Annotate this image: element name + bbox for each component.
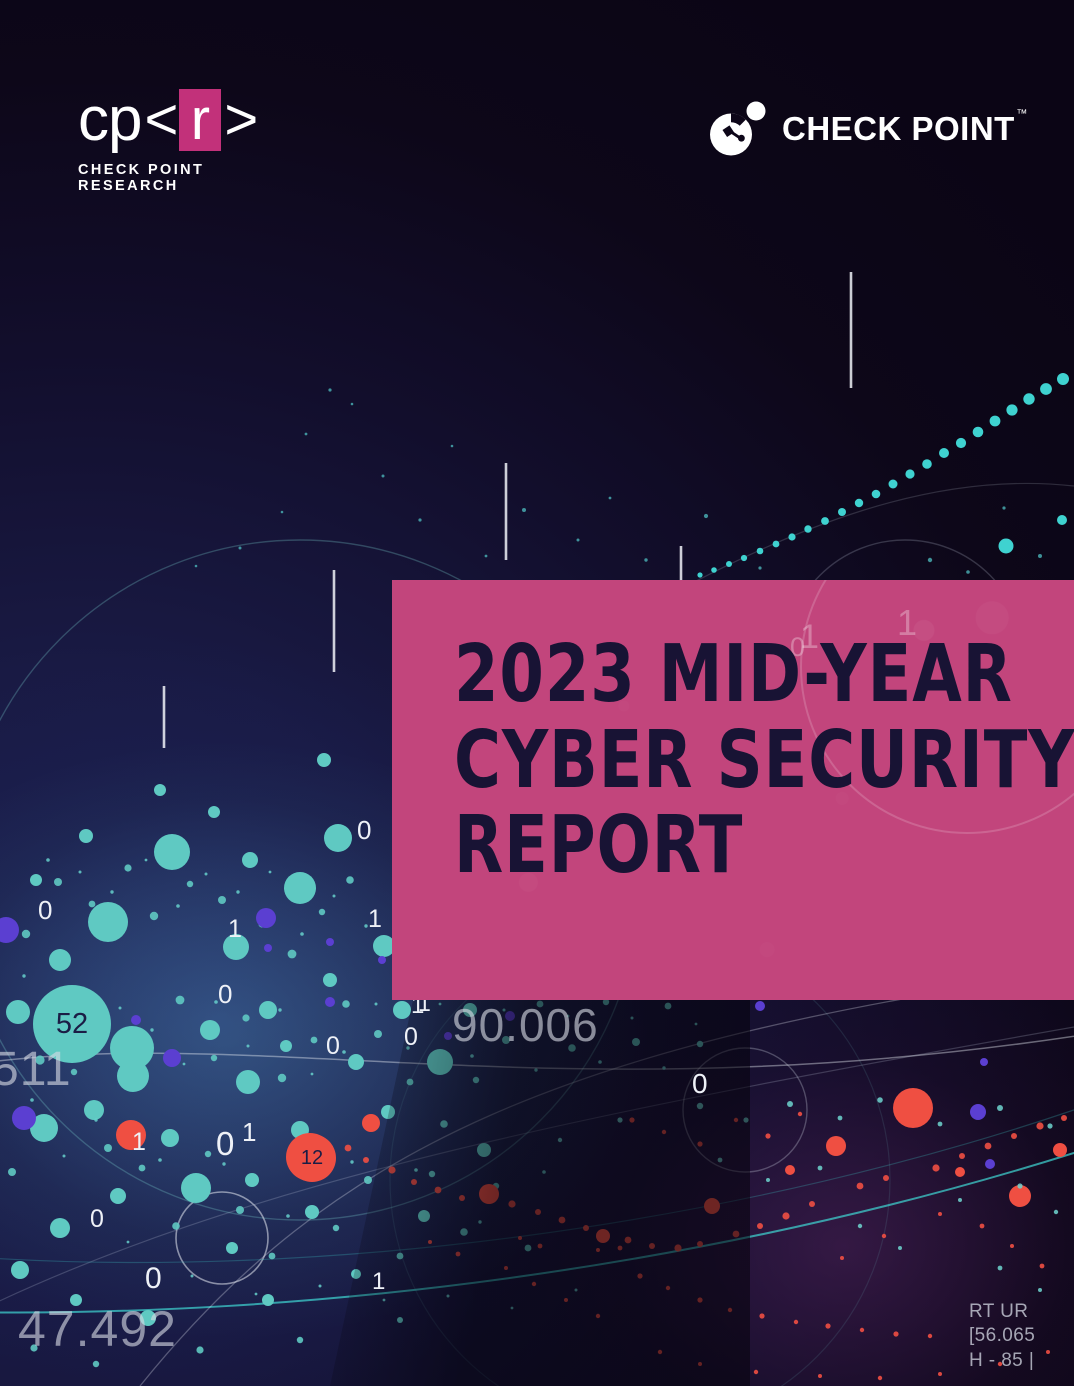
cpr-logo[interactable]: cp < r > CHECK POINT RESEARCH [78,88,278,194]
binary-digit: 1 [132,1128,146,1157]
binary-digit: 1 [368,905,382,934]
binary-digit: 1 [228,915,242,944]
binary-digit: 0 [326,1032,340,1061]
binary-digit: 0 [357,815,371,846]
data-bubble-52-label: 52 [56,1008,88,1041]
readout-90006: 90.006 [452,998,599,1052]
cpr-logo-bracket-open: < [144,91,178,149]
readout-47492: 47.492 [18,1300,177,1358]
binary-digit: 1 [372,1268,385,1296]
binary-digit: 0 [38,895,52,926]
readout-511: 511 [0,1042,72,1097]
check-point-wordmark: CHECK POINT ™ [782,110,1015,148]
page-title-line-1: 2023 MID-YEAR [454,638,994,711]
cpr-logo-subtitle: CHECK POINT RESEARCH [78,162,278,194]
binary-digit: 0 [216,1125,234,1163]
binary-digit: 1 [242,1117,256,1148]
page-title: 2023 MID-YEAR CYBER SECURITY REPORT [454,638,994,895]
data-bubble-12: 12 [288,1134,336,1182]
report-cover-page: 52 12 511 90.006 47.492 1 RT UR [56.065 … [0,0,1074,1386]
cpr-logo-r: r [179,89,221,151]
title-banner: 1 0 1 2023 MID-YEAR CYBER SECURITY REPOR… [392,580,1074,1000]
telemetry-readout: RT UR [56.065 H - 85 | [969,1300,1074,1373]
binary-digit: 0 [145,1262,162,1296]
check-point-wordmark-text: CHECK POINT [782,110,1015,147]
cpr-logo-mark: cp < r > [78,88,278,152]
cpr-logo-cp: cp [78,89,141,151]
data-bubble-12-label: 12 [301,1147,323,1170]
binary-digit: 0 [218,979,232,1010]
page-title-line-3: REPORT [454,809,994,882]
trademark-icon: ™ [1016,108,1028,120]
page-title-line-2: CYBER SECURITY [454,724,994,797]
check-point-logo[interactable]: CHECK POINT ™ [706,100,1015,158]
telemetry-line-3: H - 85 | [969,1349,1074,1373]
binary-digit: 0 [404,1023,418,1052]
telemetry-line-1: RT UR [969,1300,1074,1324]
binary-digit: 0 [692,1068,708,1100]
telemetry-line-2: [56.065 [969,1324,1074,1348]
check-point-emblem-icon [706,100,768,158]
cpr-logo-bracket-close: > [224,91,258,149]
binary-digit: 0 [90,1205,104,1234]
